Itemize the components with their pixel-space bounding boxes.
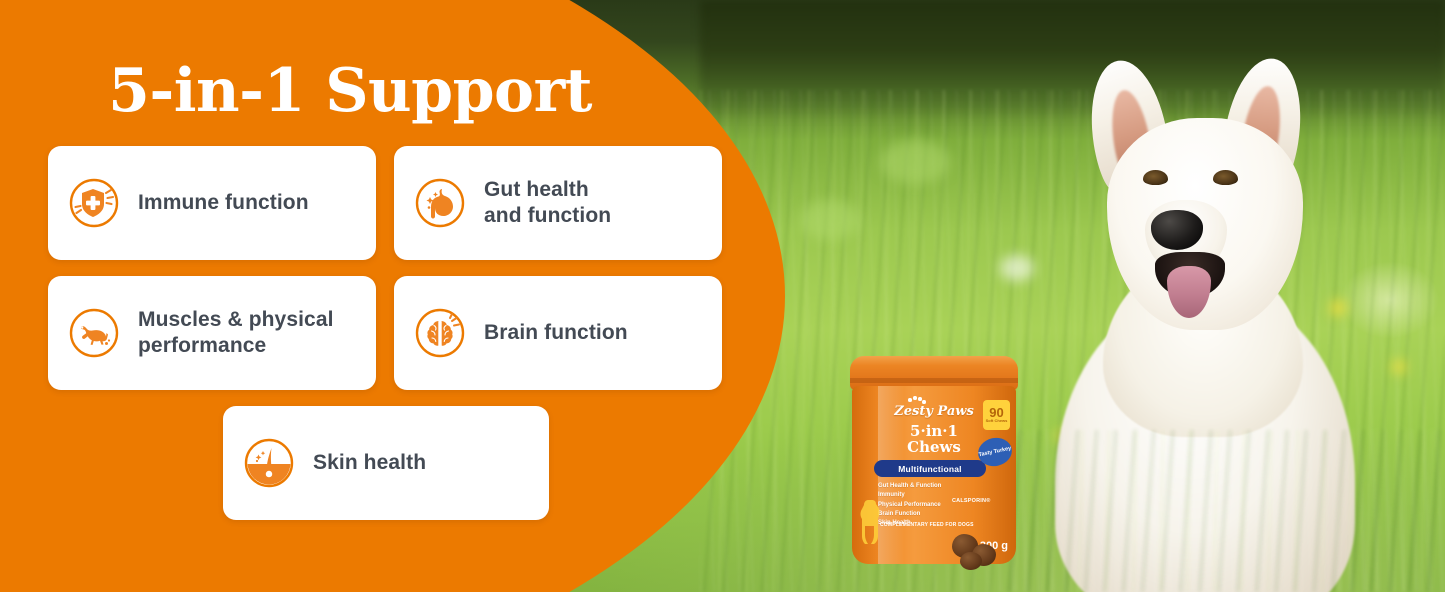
content-area: 5-in-1 Support: [0, 0, 760, 592]
multifunctional-badge: Multifunctional: [874, 460, 986, 477]
feature-label-muscles-line2: performance: [138, 334, 266, 357]
feature-label-skin: Skin health: [313, 450, 426, 476]
stomach-icon: [412, 175, 468, 231]
jar-label: Zesty Paws 5·in·1 Chews Multifunctional …: [848, 356, 1020, 566]
feature-label-muscles-line1: Muscles & physical: [138, 308, 334, 331]
dog-eye-left: [1143, 170, 1168, 185]
jar-benefit-item: Brain Function: [878, 510, 941, 519]
hair-follicle-icon: [241, 435, 297, 491]
dog-eye-right: [1213, 170, 1238, 185]
jar-benefit-item: Immunity: [878, 491, 941, 500]
feature-row-2: Muscles & physical performance: [48, 276, 724, 390]
feature-label-immune: Immune function: [138, 190, 309, 216]
feature-label-brain: Brain function: [484, 320, 628, 346]
feature-label-gut: Gut health and function: [484, 177, 611, 228]
page-title: 5-in-1 Support: [0, 56, 700, 126]
product-jar: Zesty Paws 5·in·1 Chews Multifunctional …: [848, 356, 1020, 566]
jar-benefit-item: Physical Performance: [878, 501, 941, 510]
feed-statement: COMPLEMENTARY FEED FOR DOGS: [880, 522, 974, 528]
jar-benefit-item: Gut Health & Function: [878, 482, 941, 491]
feature-card-immune[interactable]: Immune function: [48, 146, 376, 260]
bokeh-foliage: [800, 200, 860, 240]
brain-icon: [412, 305, 468, 361]
chew-treat: [960, 552, 982, 570]
ingredient-callout: CALSPORIN®: [952, 498, 990, 504]
promo-banner: 5-in-1 Support: [0, 0, 1445, 592]
dog-silhouette-icon: [856, 496, 886, 548]
shield-plus-icon: [66, 175, 122, 231]
feature-label-muscles: Muscles & physical performance: [138, 307, 334, 358]
feature-card-gut[interactable]: Gut health and function: [394, 146, 722, 260]
feature-card-skin[interactable]: Skin health: [223, 406, 549, 520]
feature-card-grid: Immune function: [48, 146, 724, 536]
feature-card-brain[interactable]: Brain function: [394, 276, 722, 390]
paw-print-icon: [908, 396, 924, 404]
foreground-grass: [1000, 430, 1445, 592]
feature-label-gut-line1: Gut health: [484, 178, 589, 201]
feature-card-muscles[interactable]: Muscles & physical performance: [48, 276, 376, 390]
feature-label-gut-line2: and function: [484, 204, 611, 227]
count-unit: Soft Chews: [986, 419, 1008, 423]
running-dog-icon: [66, 305, 122, 361]
bokeh-foliage: [880, 140, 950, 184]
count-badge: 90 Soft Chews: [983, 400, 1010, 430]
feature-row-3: Skin health: [48, 406, 724, 520]
feature-row-1: Immune function: [48, 146, 724, 260]
